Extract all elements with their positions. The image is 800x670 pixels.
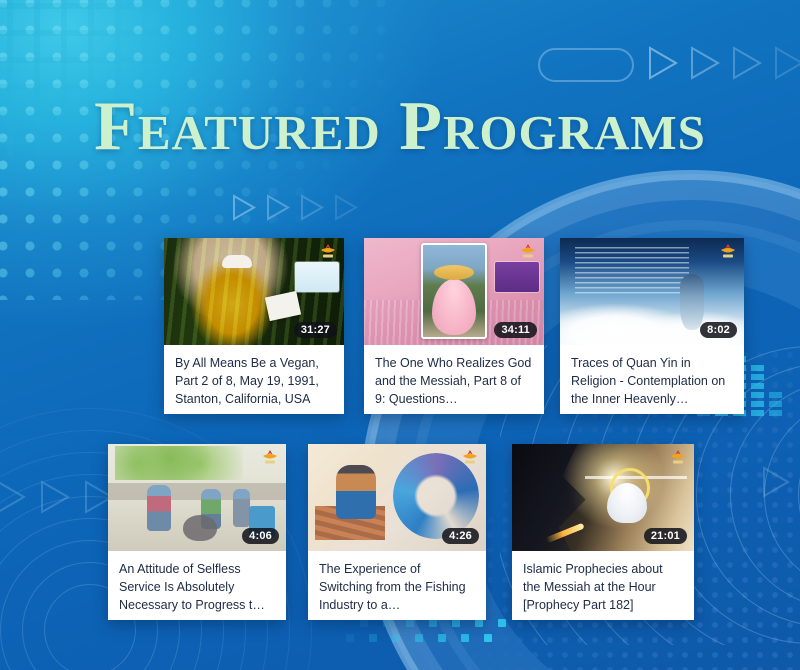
- video-duration: 34:11: [494, 322, 537, 338]
- card-title: Islamic Prophecies about the Messiah at …: [512, 551, 694, 620]
- supreme-master-logo-icon: [317, 242, 339, 260]
- supreme-master-logo-icon: [517, 242, 539, 260]
- supreme-master-logo-icon: [459, 448, 481, 466]
- supreme-master-logo-icon: [667, 448, 689, 466]
- card-thumbnail[interactable]: 8:02: [560, 238, 744, 345]
- thumbnail-overlay-card: [295, 262, 339, 292]
- video-duration: 4:06: [242, 528, 279, 544]
- card-title: The One Who Realizes God and the Messiah…: [364, 345, 544, 414]
- video-duration: 21:01: [644, 528, 687, 544]
- card-thumbnail[interactable]: 31:27: [164, 238, 344, 345]
- card-title: By All Means Be a Vegan, Part 2 of 8, Ma…: [164, 345, 344, 414]
- video-duration: 31:27: [294, 322, 337, 338]
- program-card[interactable]: 34:11 The One Who Realizes God and the M…: [364, 238, 544, 414]
- program-card[interactable]: 21:01 Islamic Prophecies about the Messi…: [512, 444, 694, 620]
- card-thumbnail[interactable]: 21:01: [512, 444, 694, 551]
- program-card[interactable]: 4:06 An Attitude of Selfless Service Is …: [108, 444, 286, 620]
- card-thumbnail[interactable]: 4:06: [108, 444, 286, 551]
- card-title: An Attitude of Selfless Service Is Absol…: [108, 551, 286, 620]
- video-duration: 8:02: [700, 322, 737, 338]
- program-card[interactable]: 8:02 Traces of Quan Yin in Religion - Co…: [560, 238, 744, 414]
- program-card[interactable]: 31:27 By All Means Be a Vegan, Part 2 of…: [164, 238, 344, 414]
- program-card[interactable]: 4:26 The Experience of Switching from th…: [308, 444, 486, 620]
- featured-programs-banner: Featured Programs 31:27 By All Means Be …: [0, 0, 800, 670]
- card-title: Traces of Quan Yin in Religion - Contemp…: [560, 345, 744, 414]
- supreme-master-logo-icon: [259, 448, 281, 466]
- video-duration: 4:26: [442, 528, 479, 544]
- supreme-master-logo-icon: [717, 242, 739, 260]
- card-thumbnail[interactable]: 4:26: [308, 444, 486, 551]
- thumbnail-overlay-card: [495, 262, 539, 292]
- card-thumbnail[interactable]: 34:11: [364, 238, 544, 345]
- program-card-grid: 31:27 By All Means Be a Vegan, Part 2 of…: [0, 0, 800, 670]
- card-title: The Experience of Switching from the Fis…: [308, 551, 486, 620]
